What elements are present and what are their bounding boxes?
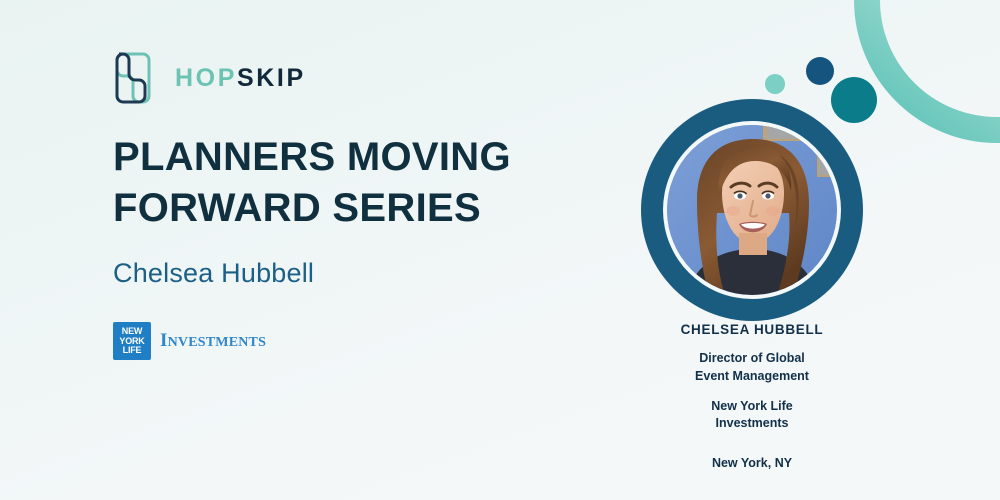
investments-initial: I	[160, 330, 168, 351]
small-teal-dot-icon	[765, 74, 785, 94]
caption-company: New York Life Investments	[627, 398, 877, 434]
hopskip-h-monogram-icon	[113, 51, 159, 105]
caption-role-line-1: Director of Global	[627, 350, 877, 368]
caption-role: Director of Global Event Management	[627, 350, 877, 386]
subject-name: Chelsea Hubbell	[113, 258, 633, 289]
navy-dot-icon	[806, 57, 834, 85]
wordmark-skip: SKIP	[237, 64, 306, 92]
investments-rest: NVESTMENTS	[168, 335, 266, 350]
caption-company-line-1: New York Life	[627, 398, 877, 416]
wordmark-hop: HOP	[175, 64, 237, 92]
new-york-life-square-icon: NEW YORK LIFE	[113, 322, 151, 360]
investments-wordmark: INVESTMENTS	[160, 330, 266, 352]
portrait-caption: CHELSEA HUBBELL Director of Global Event…	[627, 322, 877, 473]
headline-line-2: Forward Series	[113, 183, 543, 234]
avatar	[641, 99, 863, 321]
promo-slide: HOPSKIP Planners Moving Forward Series C…	[0, 0, 1000, 500]
avatar-photo	[667, 125, 837, 295]
new-york-life-investments-logo: NEW YORK LIFE INVESTMENTS	[113, 322, 633, 360]
page-title: Planners Moving Forward Series	[113, 132, 543, 234]
caption-location: New York, NY	[627, 455, 877, 473]
caption-company-line-2: Investments	[627, 415, 877, 433]
caption-role-line-2: Event Management	[627, 368, 877, 386]
caption-name: CHELSEA HUBBELL	[627, 322, 877, 337]
hopskip-logo: HOPSKIP	[113, 48, 633, 108]
hopskip-wordmark: HOPSKIP	[175, 66, 306, 91]
headline-line-1: Planners Moving	[113, 132, 543, 183]
nyl-line-3: LIFE	[123, 346, 142, 356]
left-content-column: HOPSKIP Planners Moving Forward Series C…	[113, 48, 633, 360]
